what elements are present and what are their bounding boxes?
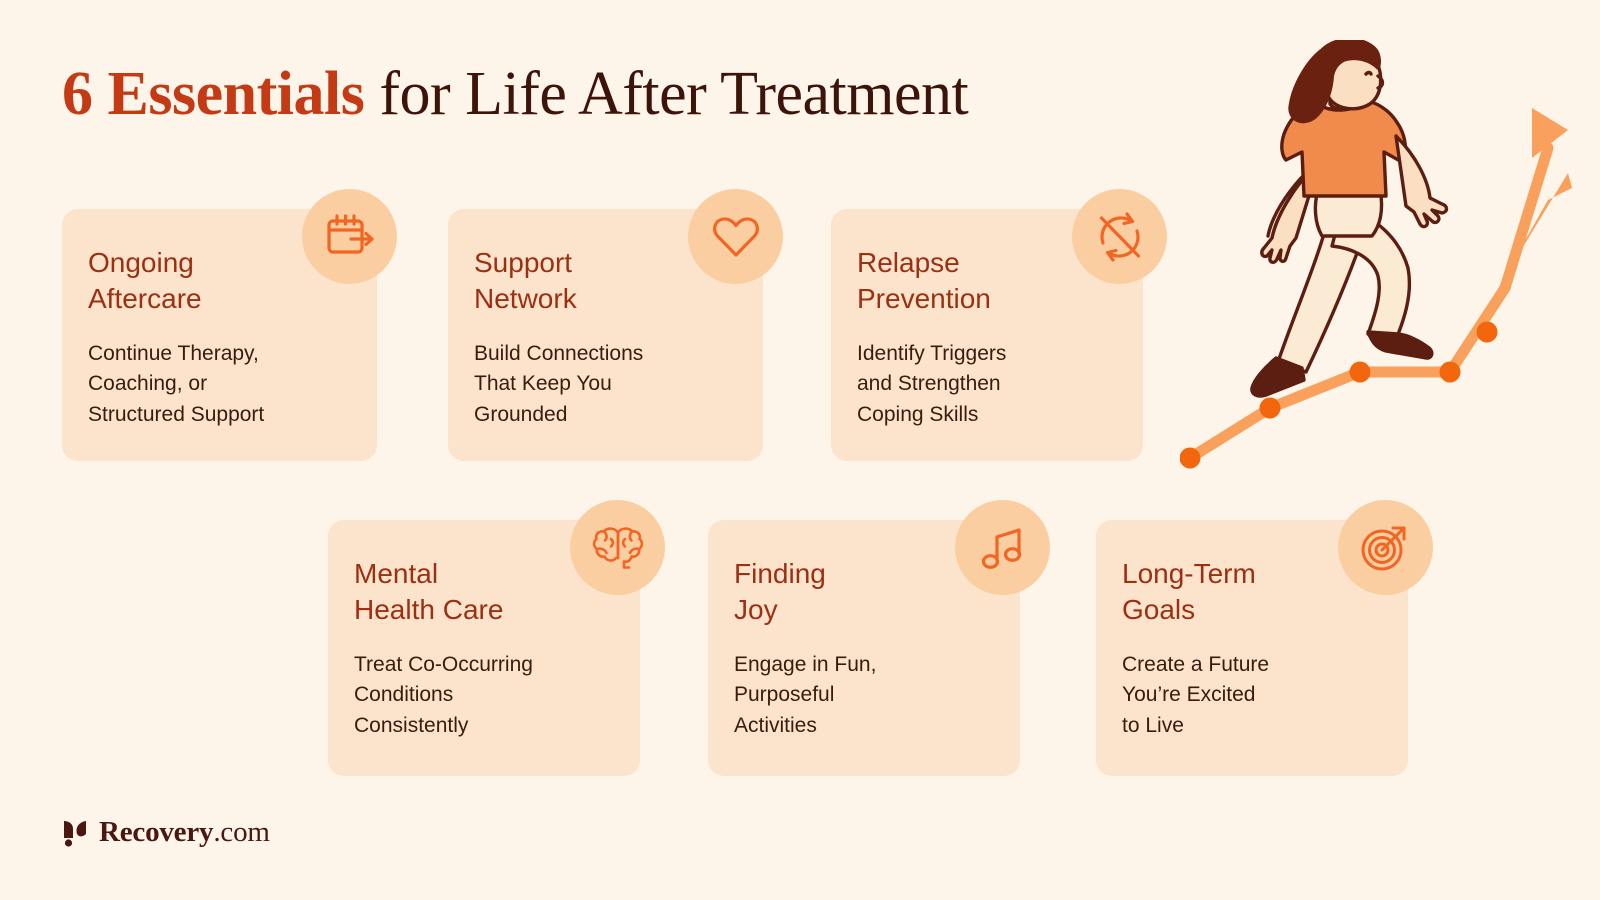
music-note-icon [955, 500, 1050, 595]
heart-icon [688, 189, 783, 284]
card-description: Create a Future You’re Excited to Live [1122, 650, 1378, 741]
recovery-leaf-mark [62, 819, 88, 847]
page-title: 6 Essentials for Life After Treatment [62, 62, 968, 127]
card-description: Treat Co-Occurring Conditions Consistent… [354, 650, 610, 741]
page-title-accent: 6 Essentials [62, 60, 364, 128]
recovery-logo[interactable]: Recovery.com [62, 816, 270, 849]
infographic-page: 6 Essentials for Life After Treatment On… [0, 0, 1600, 900]
card-description: Engage in Fun, Purposeful Activities [734, 650, 990, 741]
brain-icon [570, 500, 665, 595]
logo-tld: .com [213, 816, 269, 848]
card-title: Finding Joy [734, 556, 990, 628]
card-title: Relapse Prevention [857, 245, 1113, 317]
page-title-rest: for Life After Treatment [364, 60, 968, 128]
walking-woman-figure [1252, 40, 1447, 396]
no-repeat-icon [1072, 189, 1167, 284]
woman-climbing-growth-arrow-illustration [1180, 40, 1580, 480]
card-description: Continue Therapy, Coaching, or Structure… [88, 339, 347, 430]
logo-wordmark: Recovery.com [99, 816, 270, 849]
card-description: Build Connections That Keep You Grounded [474, 339, 733, 430]
target-icon [1338, 500, 1433, 595]
card-title: Long-Term Goals [1122, 556, 1378, 628]
logo-name: Recovery [99, 816, 213, 848]
card-description: Identify Triggers and Strengthen Coping … [857, 339, 1113, 430]
calendar-arrow-icon [302, 189, 397, 284]
card-title: Mental Health Care [354, 556, 610, 628]
